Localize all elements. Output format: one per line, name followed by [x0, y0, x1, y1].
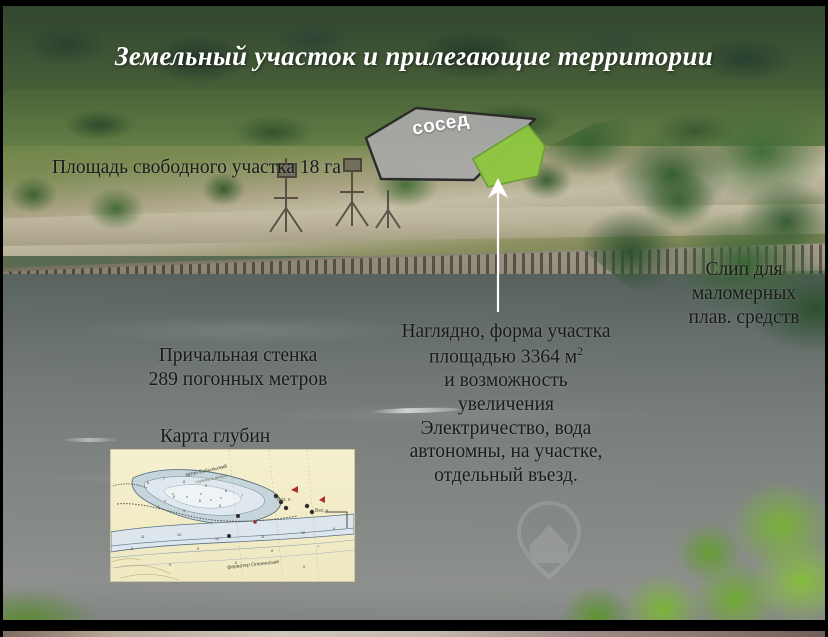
svg-text:7: 7	[241, 494, 243, 498]
svg-text:5: 5	[173, 495, 175, 499]
inset-label-marker-1: Вех. к	[277, 497, 290, 503]
caption-main-area-text: площадью 3364 м	[429, 346, 577, 367]
svg-text:5: 5	[219, 504, 221, 508]
depth-chart-drawing: 67 89 87 56 54 411 1012 1110 98 98 76 55	[111, 450, 354, 581]
svg-text:8: 8	[225, 489, 227, 493]
svg-text:11: 11	[141, 535, 145, 539]
svg-text:10: 10	[177, 533, 181, 537]
depth-chart-inset[interactable]: 67 89 87 56 54 411 1012 1110 98 98 76 55	[110, 449, 355, 582]
svg-text:9: 9	[197, 547, 199, 551]
svg-text:10: 10	[301, 531, 305, 535]
svg-text:5: 5	[303, 565, 305, 569]
page-title: Земельный участок и прилегающие территор…	[0, 40, 828, 73]
svg-text:7: 7	[317, 545, 319, 549]
caption-slip-line-2: маломерных	[668, 282, 820, 306]
caption-main-line-3: и возможность	[378, 369, 634, 393]
pointer-arrow-icon	[480, 174, 516, 314]
caption-quay-wall: Причальная стенка 289 погонных метров	[118, 344, 358, 392]
next-image-strip	[0, 631, 828, 637]
caption-depth-map: Карта глубин	[160, 425, 270, 449]
caption-main-line-6: автономны, на участке,	[378, 440, 634, 464]
caption-main-line-2: площадью 3364 м2	[378, 344, 634, 369]
aerial-photograph: сосед Земельный участок и прилегающие те…	[0, 6, 828, 620]
caption-main-line-7: отдельный въезд.	[378, 464, 634, 488]
caption-slip-line-3: плав. средств	[668, 306, 820, 330]
svg-text:4: 4	[183, 509, 185, 513]
frame-left-edge	[0, 0, 3, 637]
caption-main-area-exponent: 2	[577, 344, 583, 358]
caption-parcel-details: Наглядно, форма участка площадью 3364 м2…	[378, 320, 634, 488]
caption-boat-slip: Слип для маломерных плав. средств	[668, 258, 820, 329]
svg-text:4: 4	[157, 505, 159, 509]
svg-text:11: 11	[261, 535, 265, 539]
svg-text:9: 9	[333, 527, 335, 531]
svg-text:9: 9	[205, 484, 207, 488]
svg-text:8: 8	[183, 480, 185, 484]
svg-text:8: 8	[131, 547, 133, 551]
inset-label-marker-2: Вех. к	[315, 508, 328, 514]
caption-quay-line-1: Причальная стенка	[118, 344, 358, 368]
boat-wake-secondary	[60, 438, 120, 442]
svg-text:12: 12	[215, 537, 219, 541]
frame-top-band	[0, 0, 828, 6]
caption-main-line-5: Электричество, вода	[378, 417, 634, 441]
svg-text:8: 8	[271, 549, 273, 553]
caption-slip-line-1: Слип для	[668, 258, 820, 282]
caption-quay-line-2: 289 погонных метров	[118, 368, 358, 392]
caption-main-line-4: увеличения	[378, 393, 634, 417]
svg-text:6: 6	[199, 499, 201, 503]
caption-free-area: Площадь свободного участка 18 га	[52, 156, 341, 180]
caption-main-line-1: Наглядно, форма участка	[378, 320, 634, 344]
svg-text:5: 5	[169, 563, 171, 567]
screenshot-root: сосед Земельный участок и прилегающие те…	[0, 0, 828, 637]
svg-text:6: 6	[147, 481, 149, 485]
svg-text:7: 7	[163, 477, 165, 481]
frame-bottom-band	[0, 620, 828, 631]
